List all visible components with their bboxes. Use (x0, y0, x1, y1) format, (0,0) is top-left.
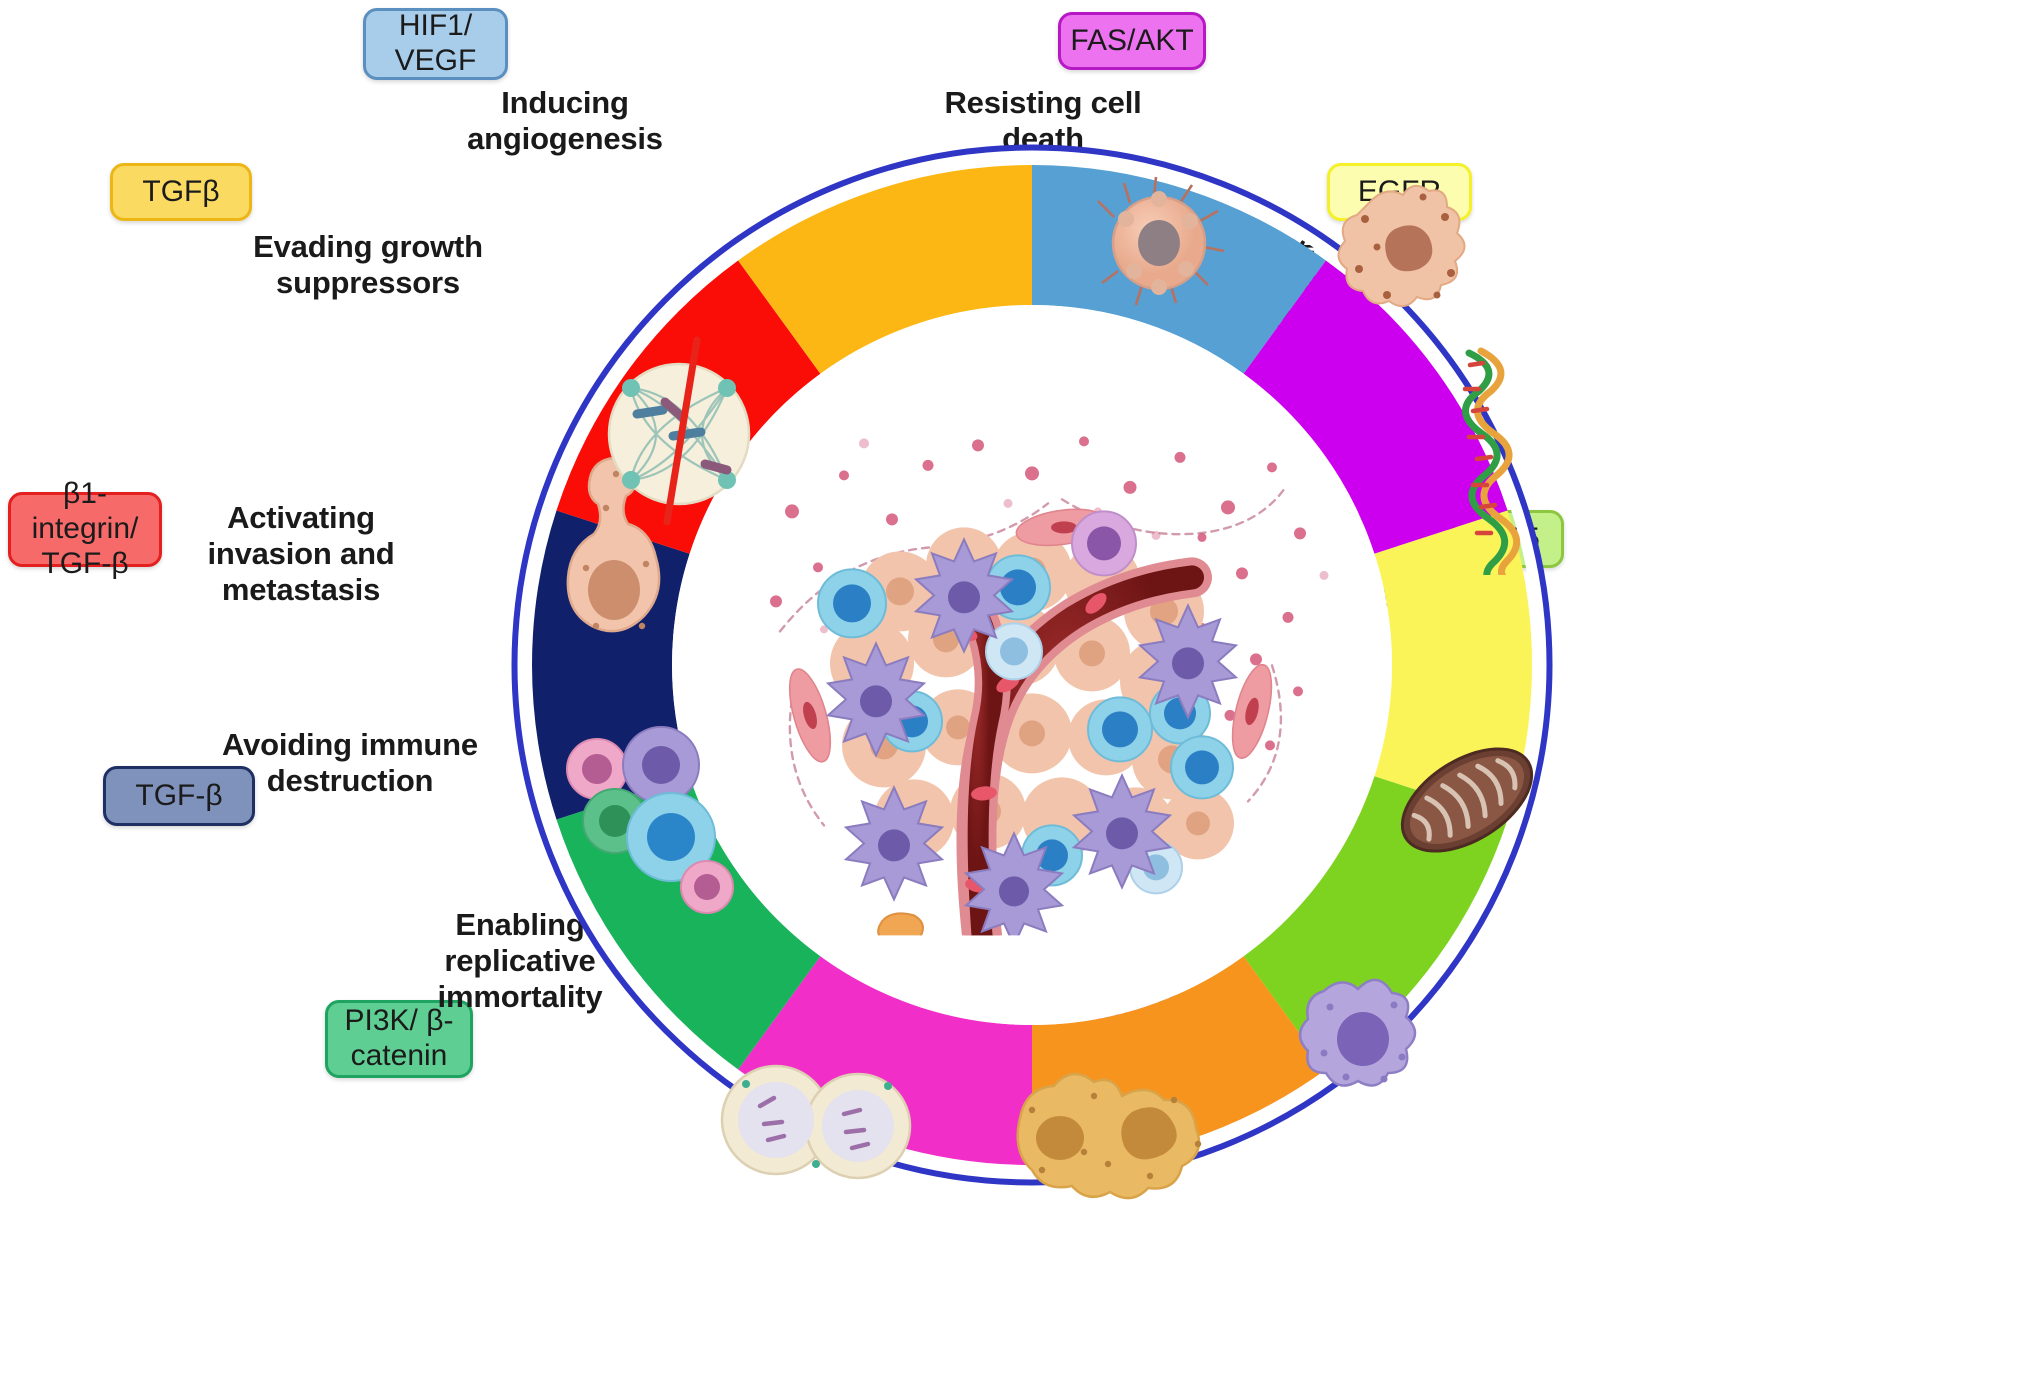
gene-box-tgf-beta-growth[interactable]: TGFβ (110, 163, 252, 221)
hallmark-label-evading-growth-suppressors: Evading growth suppressors (246, 229, 490, 301)
gene-box-beta1-integrin-tgf-beta[interactable]: β1-integrin/ TGF-β (8, 492, 162, 567)
ring-segment-avoiding-immune-destruction[interactable] (532, 510, 690, 819)
hallmarks-ring (487, 120, 1577, 1210)
hallmark-label-avoiding-immune-destruction: Avoiding immune destruction (222, 727, 478, 799)
ring-segment-genome-instability-and-mutation[interactable] (1374, 510, 1532, 819)
hallmark-label-activating-invasion-metastasis: Activating invasion and metastasis (190, 500, 412, 608)
gene-box-hif1-vegf[interactable]: HIF1/ VEGF (363, 8, 508, 80)
gene-box-fas-akt[interactable]: FAS/AKT (1058, 12, 1206, 70)
figure-canvas: HIF1/ VEGF FAS/AKT EGFR GLUT5 TNF-α PI3K… (0, 0, 2031, 1398)
tumour-microenvironment-illustration (732, 415, 1332, 935)
